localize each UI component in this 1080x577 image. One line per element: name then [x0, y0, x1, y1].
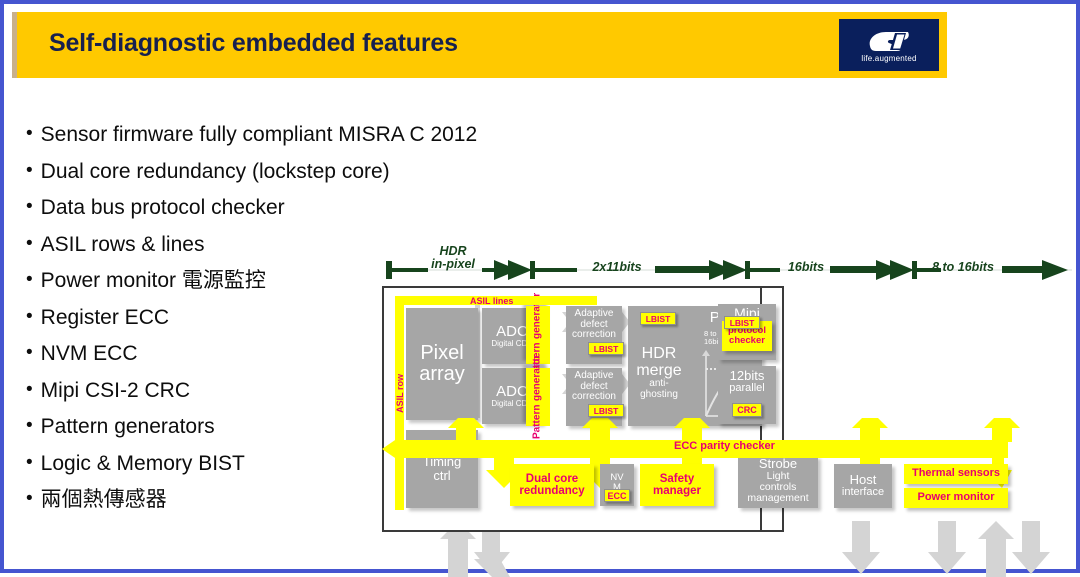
- list-item: •Register ECC: [26, 307, 386, 328]
- pipeline-segment-label-hdr: HDR in-pixel: [420, 245, 486, 271]
- feature-bullet-list: •Sensor firmware fully compliant MISRA C…: [26, 124, 386, 526]
- list-item-label: Power monitor 電源監控: [41, 270, 266, 291]
- pipeline-arrow-strip: HDR in-pixel 2x11bits 16bits 8 to 16bits: [382, 247, 1072, 281]
- list-item-label: Register ECC: [41, 307, 169, 328]
- block-power-monitor: Power monitor: [904, 488, 1008, 508]
- block-pixel-array: Pixel array: [406, 308, 478, 420]
- badge-parallel-crc: CRC: [732, 403, 762, 417]
- list-item-label: Dual core redundancy (lockstep core): [41, 161, 390, 182]
- list-item-label: ASIL rows & lines: [41, 234, 205, 255]
- asil-lines-label: ASIL lines: [470, 296, 513, 306]
- page-title: Self-diagnostic embedded features: [49, 29, 458, 58]
- pipeline-segment-label-16bits: 16bits: [778, 260, 834, 274]
- list-item: •Dual core redundancy (lockstep core): [26, 161, 386, 182]
- list-item: •Logic & Memory BIST: [26, 453, 386, 474]
- bullet-dot-icon: •: [26, 453, 33, 473]
- block-dual-core-redundancy: Dual core redundancy: [510, 464, 594, 506]
- badge-lbist-hdr-merge: LBIST: [640, 312, 676, 325]
- st-logo: life.augmented: [839, 19, 939, 71]
- st-swirl-icon: [866, 28, 912, 53]
- slide-root: Self-diagnostic embedded features life.a…: [0, 0, 1080, 573]
- bullet-dot-icon: •: [26, 416, 33, 436]
- list-item: •ASIL rows & lines: [26, 234, 386, 255]
- list-item-label: Data bus protocol checker: [41, 197, 285, 218]
- badge-lbist-adaptive-top: LBIST: [588, 342, 624, 355]
- list-item: •Data bus protocol checker: [26, 197, 386, 218]
- block-host-interface: Host interface: [834, 464, 892, 508]
- bullet-dot-icon: •: [26, 124, 33, 144]
- bullet-dot-icon: •: [26, 270, 33, 290]
- list-item: •兩個熱傳感器: [26, 489, 386, 510]
- block-adaptive-defect-correction-bottom: Adaptive defect correction: [566, 368, 622, 426]
- st-logo-tagline: life.augmented: [861, 54, 916, 63]
- bullet-dot-icon: •: [26, 234, 33, 254]
- block-timing-ctrl: Timing ctrl: [406, 430, 478, 508]
- pipeline-segment-label-8to16bits: 8 to 16bits: [922, 260, 1004, 274]
- bullet-dot-icon: •: [26, 343, 33, 363]
- bullet-dot-icon: •: [26, 380, 33, 400]
- block-adaptive-defect-correction-top: Adaptive defect correction: [566, 306, 622, 364]
- bullet-dot-icon: •: [26, 197, 33, 217]
- list-item-label: NVM ECC: [41, 343, 138, 364]
- slide-header: Self-diagnostic embedded features life.a…: [12, 12, 947, 78]
- bullet-dot-icon: •: [26, 489, 33, 509]
- list-item-label: 兩個熱傳感器: [41, 489, 167, 510]
- list-item: •Pattern generators: [26, 416, 386, 437]
- list-item-label: Pattern generators: [41, 416, 215, 437]
- asil-row-label: ASIL row: [395, 374, 405, 413]
- badge-lbist-pwl: LBIST: [724, 316, 760, 329]
- block-thermal-sensors: Thermal sensors: [904, 464, 1008, 484]
- block-strobe-light-controls: Strobe Light controls management: [738, 456, 818, 508]
- list-item-label: Mipi CSI-2 CRC: [41, 380, 190, 401]
- badge-nvm-ecc: ECC: [604, 489, 630, 502]
- list-item: •Power monitor 電源監控: [26, 270, 386, 291]
- list-item: •Sensor firmware fully compliant MISRA C…: [26, 124, 386, 145]
- badge-lbist-adaptive-bottom: LBIST: [588, 404, 624, 417]
- list-item: •Mipi CSI-2 CRC: [26, 380, 386, 401]
- pipeline-segment-label-2x11bits: 2x11bits: [572, 260, 662, 274]
- block-pattern-generator-bottom: Pattern generator: [526, 368, 550, 426]
- bullet-dot-icon: •: [26, 307, 33, 327]
- list-item: •NVM ECC: [26, 343, 386, 364]
- list-item-label: Logic & Memory BIST: [41, 453, 245, 474]
- list-item-label: Sensor firmware fully compliant MISRA C …: [41, 124, 478, 145]
- block-safety-manager: Safety manager: [640, 464, 714, 506]
- bullet-dot-icon: •: [26, 161, 33, 181]
